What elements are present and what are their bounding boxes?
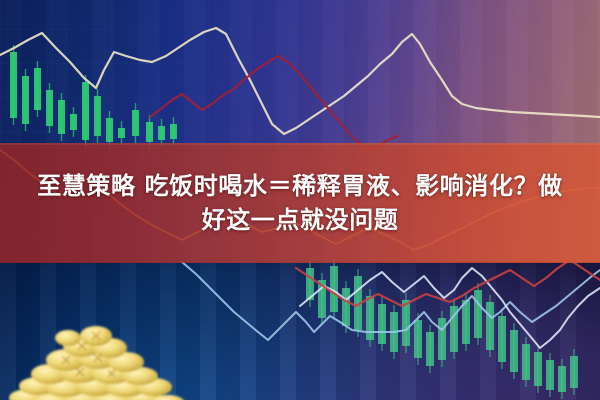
trend-line-dark-red-trend-line-upper — [150, 56, 398, 150]
headline-text-block: 至慧策略 吃饭时喝水＝稀释胃液、影响消化？做 好这一点就没问题 — [0, 143, 600, 263]
headline-line-2: 好这一点就没问题 — [202, 206, 399, 234]
thumbnail-canvas: 至慧策略 吃饭时喝水＝稀释胃液、影响消化？做 好这一点就没问题 — [0, 0, 600, 400]
trend-line-cream-trend-line-upper — [0, 28, 600, 134]
trend-line-red-trend-line-lower-right — [296, 260, 600, 306]
candlestick-group-top-left — [10, 45, 177, 149]
headline-line-1: 至慧策略 吃饭时喝水＝稀释胃液、影响消化？做 — [37, 172, 563, 200]
